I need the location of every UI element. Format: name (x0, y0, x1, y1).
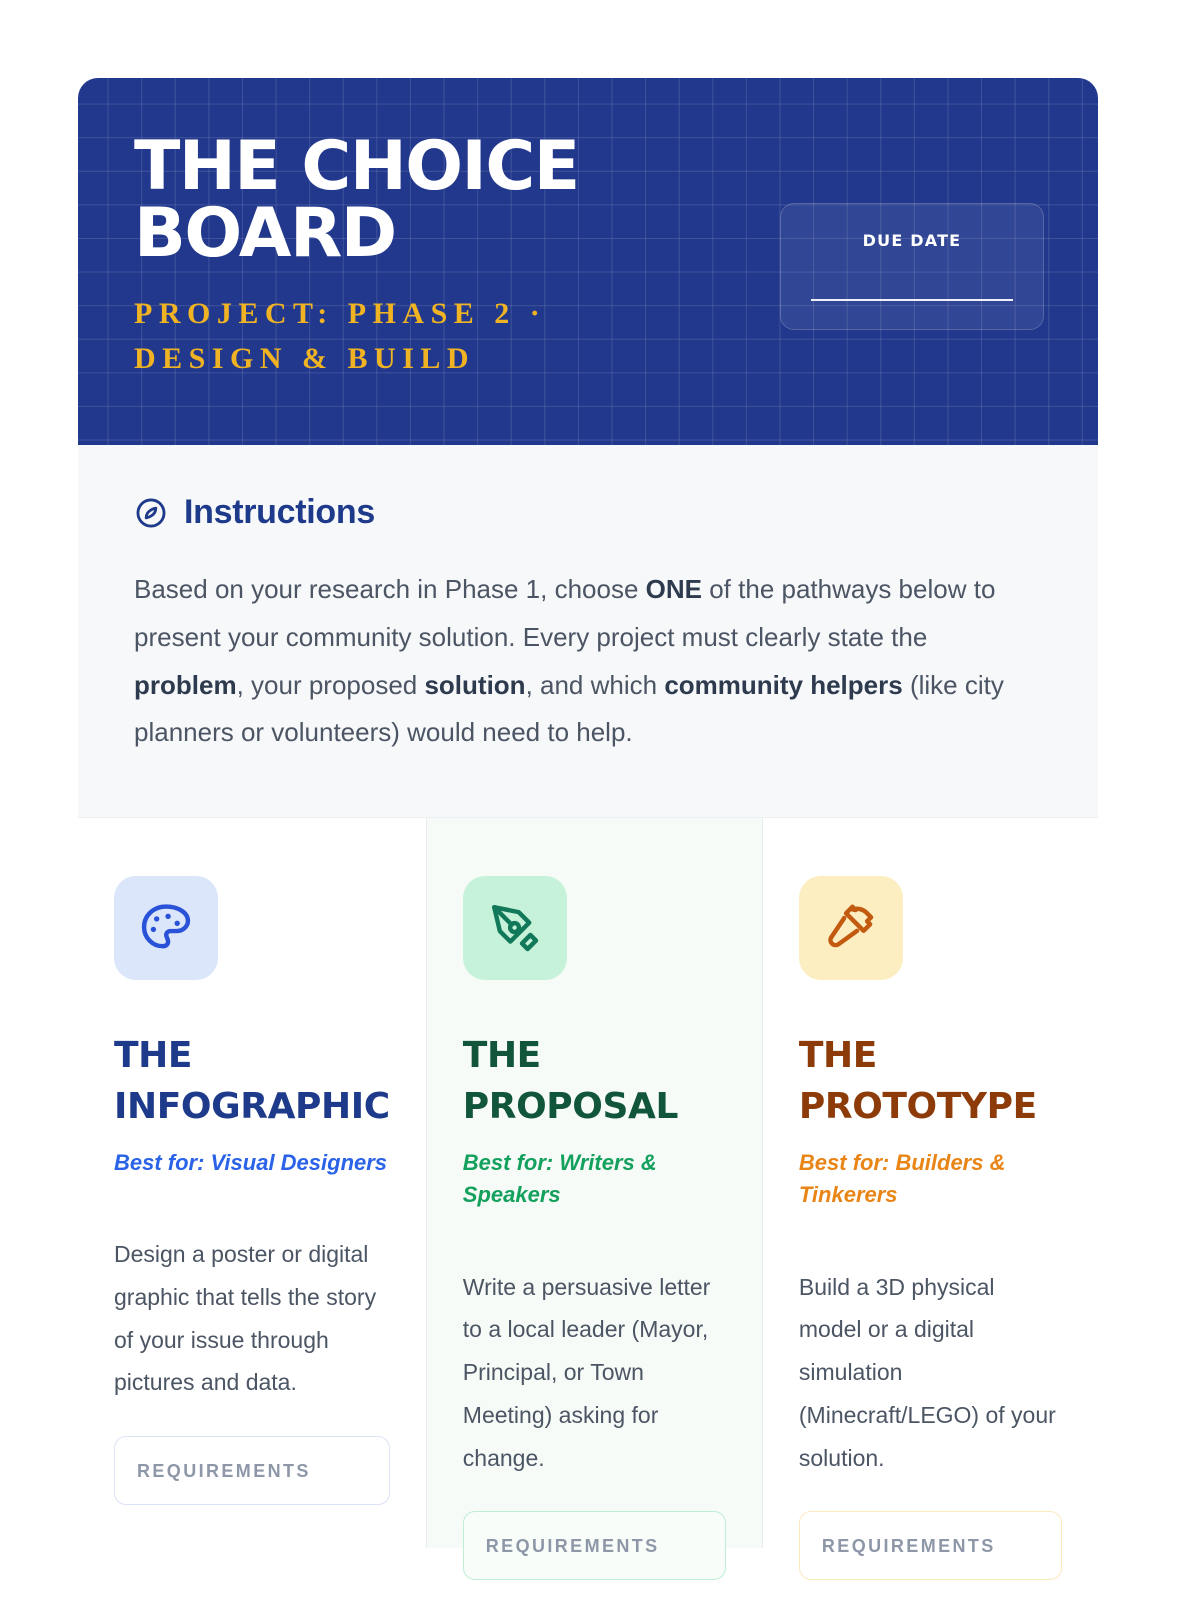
pathway-subtitle: Best for: Writers & Speakers (463, 1147, 726, 1212)
pathway-description: Build a 3D physical model or a digital s… (799, 1266, 1062, 1480)
requirements-box: REQUIREMENTS (463, 1511, 726, 1580)
board-header: THE CHOICE BOARD PROJECT: PHASE 2 · DESI… (78, 78, 1098, 445)
pathway-title: THE PROPOSAL (463, 1030, 726, 1132)
due-date-label: DUE DATE (781, 231, 1043, 250)
palette-icon (114, 876, 218, 980)
pathway-card-prototype[interactable]: THE PROTOTYPE Best for: Builders & Tinke… (762, 818, 1098, 1548)
hammer-icon (799, 876, 903, 980)
requirements-label: REQUIREMENTS (137, 1461, 367, 1482)
compass-icon (134, 496, 168, 530)
pathway-description: Write a persuasive letter to a local lea… (463, 1266, 726, 1480)
pen-nib-icon (463, 876, 567, 980)
pathway-title: THE INFOGRAPHIC (114, 1030, 390, 1132)
requirements-label: REQUIREMENTS (822, 1536, 1039, 1557)
page-title: THE CHOICE BOARD (134, 133, 694, 268)
pathway-card-proposal[interactable]: THE PROPOSAL Best for: Writers & Speaker… (426, 818, 762, 1548)
requirements-label: REQUIREMENTS (486, 1536, 703, 1557)
choice-board-card: THE CHOICE BOARD PROJECT: PHASE 2 · DESI… (78, 78, 1098, 1600)
pathway-description: Design a poster or digital graphic that … (114, 1233, 390, 1404)
due-date-box[interactable]: DUE DATE (780, 203, 1044, 330)
requirements-box: REQUIREMENTS (799, 1511, 1062, 1580)
instructions-header: Instructions (134, 493, 1042, 532)
instructions-body: Based on your research in Phase 1, choos… (134, 566, 1042, 757)
pathway-subtitle: Best for: Visual Designers (114, 1147, 390, 1180)
due-date-input-line[interactable] (811, 299, 1013, 301)
pathway-subtitle: Best for: Builders & Tinkerers (799, 1147, 1062, 1212)
pathway-cards: THE INFOGRAPHIC Best for: Visual Designe… (78, 818, 1098, 1548)
pathway-title: THE PROTOTYPE (799, 1030, 1062, 1132)
instructions-section: Instructions Based on your research in P… (78, 445, 1098, 818)
project-subtitle: PROJECT: PHASE 2 · DESIGN & BUILD (134, 291, 674, 382)
pathway-card-infographic[interactable]: THE INFOGRAPHIC Best for: Visual Designe… (78, 818, 426, 1548)
requirements-box: REQUIREMENTS (114, 1436, 390, 1505)
choice-board-page: THE CHOICE BOARD PROJECT: PHASE 2 · DESI… (0, 0, 1200, 1600)
instructions-heading: Instructions (184, 493, 375, 532)
